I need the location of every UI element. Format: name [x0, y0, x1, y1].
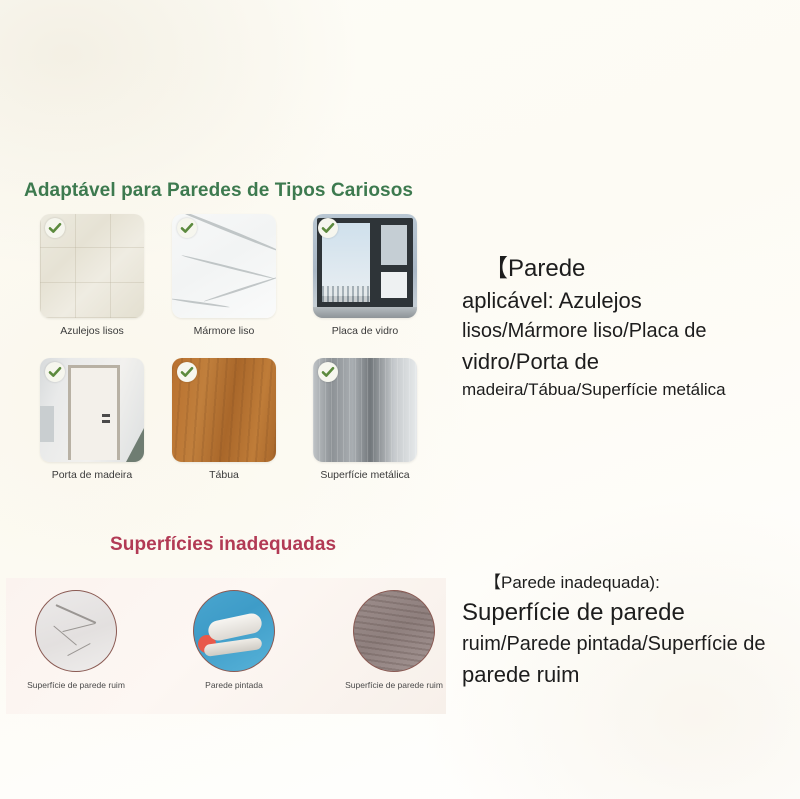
surface-card-smooth-tiles[interactable]: Azulejos lisos [40, 214, 144, 337]
surface-label: Placa de vidro [313, 325, 417, 337]
surface-label: Superfície de parede ruim [16, 680, 136, 690]
applicable-note-line-2: aplicável: Azulejos [462, 285, 782, 316]
thumbnail-bad-wall-rough [353, 590, 435, 672]
applicable-note-line-1: 【Parede [462, 252, 782, 285]
suitable-row-2: Porta de madeira Tábua Superfície metáli… [0, 358, 450, 502]
thumbnail-bad-wall-cracked [35, 590, 117, 672]
surface-label: Parede pintada [174, 680, 294, 690]
surface-label: Azulejos lisos [40, 325, 144, 337]
surface-card-glass-panel[interactable]: Placa de vidro [313, 214, 417, 337]
check-badge-icon [45, 218, 65, 238]
unsuitable-note-line-3: ruim/Parede pintada/Superfície de [462, 629, 787, 659]
applicable-note-line-5: madeira/Tábua/Superfície metálica [462, 377, 782, 403]
surface-label: Porta de madeira [40, 469, 144, 481]
applicable-note-line-4: vidro/Porta de [462, 346, 782, 377]
thumbnail-painted-wall [193, 590, 275, 672]
check-badge-icon [45, 362, 65, 382]
product-detail-image: Adaptável para Paredes de Tipos Cariosos… [0, 0, 800, 799]
check-badge-icon [318, 362, 338, 382]
surface-label: Tábua [172, 469, 276, 481]
suitable-surface-grid: Azulejos lisos Mármore liso [0, 214, 450, 502]
check-badge-icon [177, 362, 197, 382]
applicable-wall-note: 【Parede aplicável: Azulejos lisos/Mármor… [462, 252, 782, 403]
surface-card-smooth-marble[interactable]: Mármore liso [172, 214, 276, 337]
unsuitable-card-painted-wall[interactable]: Parede pintada [174, 590, 294, 690]
unsuitable-note-line-4: parede ruim [462, 659, 787, 690]
unsuitable-note-line-2: Superfície de parede [462, 596, 787, 629]
surface-card-board[interactable]: Tábua [172, 358, 276, 481]
suitable-heading: Adaptável para Paredes de Tipos Cariosos [24, 180, 413, 202]
unsuitable-heading: Superfícies inadequadas [110, 534, 336, 556]
surface-card-wooden-door[interactable]: Porta de madeira [40, 358, 144, 481]
thumbnail-metal-surface [313, 358, 417, 462]
applicable-note-line-3: lisos/Mármore liso/Placa de [462, 316, 782, 346]
unsuitable-card-bad-wall-1[interactable]: Superfície de parede ruim [16, 590, 136, 690]
check-badge-icon [318, 218, 338, 238]
unsuitable-card-bad-wall-2[interactable]: Superfície de parede ruim [334, 590, 454, 690]
unsuitable-surface-panel: Superfície de parede ruim Parede pintada… [6, 578, 446, 714]
unsuitable-note-line-1: 【Parede inadequada): [462, 570, 787, 596]
unsuitable-wall-note: 【Parede inadequada): Superfície de pared… [462, 570, 787, 690]
thumbnail-board [172, 358, 276, 462]
suitable-row-1: Azulejos lisos Mármore liso [0, 214, 450, 358]
check-badge-icon [177, 218, 197, 238]
surface-label: Superfície metálica [313, 469, 417, 481]
thumbnail-wooden-door [40, 358, 144, 462]
thumbnail-smooth-tiles [40, 214, 144, 318]
surface-label: Superfície de parede ruim [334, 680, 454, 690]
thumbnail-smooth-marble [172, 214, 276, 318]
thumbnail-glass-panel [313, 214, 417, 318]
surface-card-metal-surface[interactable]: Superfície metálica [313, 358, 417, 481]
surface-label: Mármore liso [172, 325, 276, 337]
